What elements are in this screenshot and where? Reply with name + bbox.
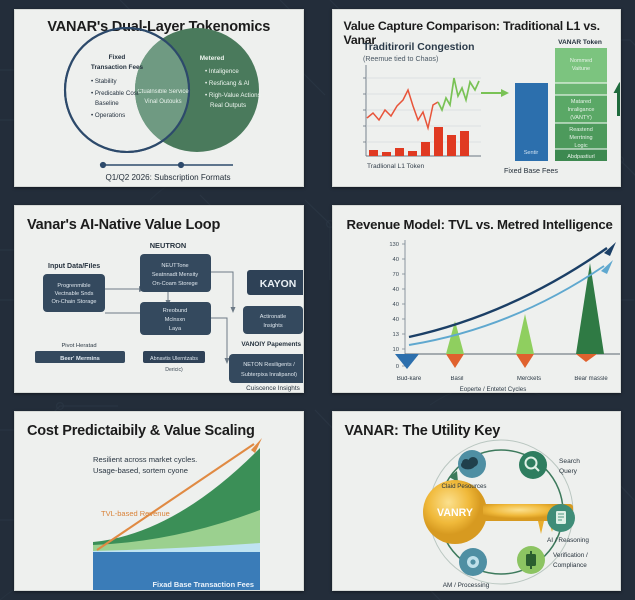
footer-right-caption: VANOIY Papements / <box>241 341 303 348</box>
cloud-resources-label: Claid Pesources <box>441 483 486 490</box>
note-line2: Usage-based, sortem cyone <box>93 466 188 475</box>
kayon-label: KAYON <box>260 279 297 290</box>
box-input-line1: Vectnable Snds <box>55 291 94 297</box>
bear-peak-spike <box>576 263 604 354</box>
right-bullet-3: Real Outputs <box>210 102 246 109</box>
right-bullet-0: • Intaligence <box>205 68 239 75</box>
right-heading: Metered <box>200 55 225 62</box>
x-axis-tick-labels: Bud-kare Basil Merckets Bear massle <box>396 376 608 382</box>
timeline-arrow <box>101 163 233 168</box>
search-query-node[interactable] <box>519 451 547 479</box>
segment-3-line2: Merrtning <box>569 135 592 141</box>
box-insights-line0: Actironatle <box>260 314 286 320</box>
svg-text:13: 13 <box>392 332 398 338</box>
y-axis-tick-labels: 130 40 70 40 40 40 13 10 0 <box>389 242 399 370</box>
resilience-up-arrow <box>613 82 621 116</box>
segment-0-line2: Vaitune <box>571 66 589 72</box>
neutron-label: NEUTRON <box>150 241 187 250</box>
left-chart-bars <box>369 127 469 156</box>
svg-text:70: 70 <box>392 272 398 278</box>
x-axis-label: Eoperte / Entetet Cycles <box>459 386 526 393</box>
panel-value-capture-comparison[interactable]: Value Capture Comparison: Traditional L1… <box>332 9 622 187</box>
panel-dual-layer-tokenomics[interactable]: VANAR's Dual-Layer Tokenomics Fixed Tran… <box>14 9 304 187</box>
svg-text:0: 0 <box>395 364 398 370</box>
gear-icon-center <box>470 559 475 564</box>
fixed-base-bar-text: Sentir <box>523 150 538 156</box>
box-insights-line1: Insights <box>263 323 282 329</box>
segment-2-line1: Matared <box>570 99 590 105</box>
box-neton-line1: Subterpixa Inralipanol) <box>241 372 297 378</box>
left-bullet-2: Baseline <box>95 100 119 107</box>
segment-0-line1: Nommed <box>569 58 591 64</box>
overlap-line1: Ctualnsible Service <box>137 89 189 95</box>
transition-arrow <box>481 89 509 97</box>
segment-3-line1: Reastend <box>569 127 593 133</box>
svg-text:40: 40 <box>392 302 398 308</box>
box-input-line2: On-Chain Storage <box>51 299 96 305</box>
svg-text:40: 40 <box>392 287 398 293</box>
left-chart-heading: Traditiroril Congestion <box>363 42 474 53</box>
left-bullet-3: • Operations <box>91 112 125 119</box>
box-neutron-line1: Seatnnadt Mensity <box>152 272 199 278</box>
left-heading-line2: Transaction Fees <box>91 64 144 71</box>
search-query-label-line2: Query <box>559 468 578 475</box>
box-refined-line2: Laya <box>169 326 182 332</box>
slide-board: VANAR's Dual-Layer Tokenomics Fixed Tran… <box>0 0 635 600</box>
box-input-line0: Progrenmible <box>57 283 90 289</box>
segment-3-line3: Logic <box>574 143 587 149</box>
left-chart-axis-label: Tradlional L1 Token <box>367 163 425 170</box>
base-label: Fixad Base Transaction Fees <box>153 580 254 589</box>
note-line1: Resilient across market cycles. <box>93 455 197 464</box>
footer-bottom-caption: Cuiscence Insights <box>246 385 300 392</box>
panel-revenue-model[interactable]: Revenue Model: TVL vs. Metred Intelligen… <box>332 205 622 393</box>
footer-mid-caption: Dericic) <box>165 367 183 373</box>
y-axis-ticks <box>402 244 405 366</box>
box-neton-line0: NETON Resiligents / <box>243 362 295 368</box>
ai-reasoning-label: AI / Reasoning <box>547 537 589 544</box>
verification-label-line2: Compliance <box>553 562 587 569</box>
footer-left-caption: Pivot Heratad <box>61 343 96 349</box>
panel-cost-predictability[interactable]: Cost Predictaibily & Value Scaling Resil… <box>14 411 304 591</box>
svg-text:40: 40 <box>392 317 398 323</box>
segment-2-line3: (VANTY) <box>570 115 592 121</box>
left-chart-yticks <box>363 78 366 142</box>
right-bullet-1: • Resficang & AI <box>205 80 250 87</box>
svg-text:Merckets: Merckets <box>516 376 540 382</box>
box-refined-line1: Mclnsxn <box>165 317 186 323</box>
document-icon <box>556 511 566 524</box>
vanar-token-label: VANAR Token <box>558 39 602 46</box>
revenue-model-chart: 130 40 70 40 40 40 13 10 0 <box>333 206 622 393</box>
svg-text:130: 130 <box>389 242 399 248</box>
red-volatility-line <box>367 90 438 128</box>
right-bullet-2: • Righ-Value Actions <box>205 92 261 99</box>
value-loop-flowchart: NEUTRON Input Data/Files <box>15 206 304 393</box>
svg-text:Bear massle: Bear massle <box>574 376 608 382</box>
utility-key-diagram: VANRY Claid Pesources Search Query <box>333 412 622 591</box>
search-query-label-line1: Search <box>559 458 580 465</box>
value-capture-chart: Traditiroril Congestion (Reemue tied to … <box>333 10 622 187</box>
segment-2-line2: Inraligance <box>567 107 594 113</box>
footer-label: Q1/Q2 2026: Subscription Formats <box>105 173 230 182</box>
panel-utility-key[interactable]: VANAR: The Utility Key <box>332 411 622 591</box>
left-chart-subheading: (Reemue tied to Chaos) <box>363 55 438 63</box>
footer-mid-pill-label: Abnavtis Ulerntzabs <box>150 356 198 362</box>
svg-text:10: 10 <box>392 347 398 353</box>
venn-diagram: Fixed Transaction Fees • Stability • Pre… <box>15 10 304 187</box>
downside-spikes <box>446 354 597 368</box>
panel-ai-native-value-loop[interactable]: Vanar's AI-Native Value Loop NEUTRON Inp… <box>14 205 304 393</box>
series-label: TVL-based Revenue <box>101 509 170 518</box>
cost-scaling-area-chart: Resilient across market cycles. Usage-ba… <box>15 412 304 591</box>
left-heading-line1: Fixed <box>109 54 126 61</box>
box-neutron-line2: On-Coam Storege <box>152 281 197 287</box>
left-bullet-0: • Stability <box>91 78 117 85</box>
input-label: Input Data/Files <box>48 263 100 270</box>
svg-text:40: 40 <box>392 257 398 263</box>
box-refined-line0: Rreobund <box>163 308 188 314</box>
footer-left-pill-label: Beer' Mermins <box>60 356 100 362</box>
overlap-line2: Vinal Outouks <box>144 99 181 105</box>
left-bullet-1: • Predicable Cost <box>91 90 139 97</box>
verification-label-line1: Verification / <box>553 552 588 559</box>
am-processing-label: AM / Processing <box>442 582 489 589</box>
svg-text:Bud-kare: Bud-kare <box>396 376 421 382</box>
segment-4-line1: Abdpastiurl <box>567 154 595 160</box>
svg-text:Basil: Basil <box>450 376 463 382</box>
box-neutron-line0: NEUTTone <box>161 263 188 269</box>
key-label: VANRY <box>437 507 473 519</box>
fixed-base-label: Fixed Base Fees <box>504 166 558 175</box>
